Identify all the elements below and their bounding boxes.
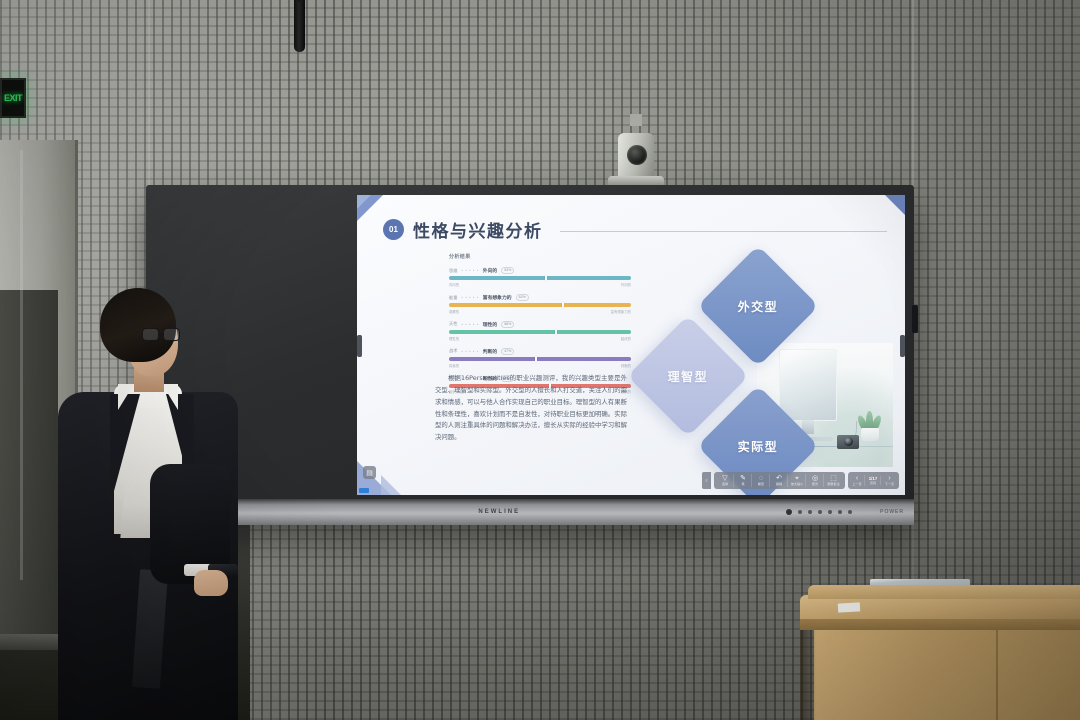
display-bottom-bezel: NEWLINE POWER <box>146 499 914 525</box>
annotation-toolbar[interactable]: ≡ ▽ 选择 ✎ 笔 ◌ 橡皮 ↶ <box>702 472 899 489</box>
trait-row: 天性 • • • • • 理性的 58% 理性的 起伏的 <box>449 321 631 341</box>
plant-icon <box>857 411 883 441</box>
trait-row: 思维 • • • • • 外向的 53% 内向的 外向的 <box>449 267 631 287</box>
trait-dimension: 战术 <box>449 348 457 354</box>
bezel-key[interactable] <box>818 510 822 514</box>
trait-bar-knob <box>562 302 564 308</box>
screenshot-tool-button[interactable]: ⬚ 屏幕批注 <box>825 474 842 487</box>
trait-name: 理性的 <box>483 321 497 328</box>
trait-percent: 58% <box>501 321 514 328</box>
toolbar-tool-group[interactable]: ▽ 选择 ✎ 笔 ◌ 橡皮 ↶ 撤销 <box>714 472 845 489</box>
presenter <box>58 288 238 720</box>
page-title: 性格与兴趣分析 <box>413 217 543 242</box>
presentation-slide[interactable]: 01 性格与兴趣分析 分析结果 思维 • • • • • 外向的 53% <box>357 195 905 495</box>
paper-note <box>838 602 860 612</box>
trait-dots: • • • • • <box>461 322 478 327</box>
trait-row: 能量 • • • • • 富有想象力的 62% 观察的 富有想象力的 <box>449 294 631 314</box>
trait-dots: • • • • • <box>461 268 478 273</box>
pen-icon: ✎ <box>740 475 746 482</box>
trait-bar <box>449 276 631 280</box>
bezel-key[interactable] <box>828 510 832 514</box>
prev-page-button[interactable]: ‹ 上一页 <box>850 475 865 486</box>
tool-label: 聚光 <box>812 483 818 486</box>
glasses-lens-left <box>142 328 159 341</box>
cursor-select-icon: ▽ <box>722 475 727 482</box>
header-divider <box>560 231 888 232</box>
trait-percent: 47% <box>501 348 514 355</box>
side-port-right <box>912 305 918 333</box>
menu-icon: ▤ <box>366 469 373 477</box>
next-page-button[interactable]: › 下一页 <box>882 475 897 486</box>
trait-name: 外向的 <box>483 267 497 274</box>
trait-dimension: 能量 <box>449 295 457 301</box>
trait-bar <box>449 330 631 334</box>
corner-decoration-top-right <box>885 195 905 215</box>
tool-label: 撤销 <box>776 483 782 486</box>
prev-page-label: 上一页 <box>852 483 861 486</box>
tool-label: 屏幕批注 <box>827 483 839 486</box>
personality-type-diagram: 外交型 理智型 实际型 <box>627 257 897 472</box>
chart-caption: 分析结果 <box>449 253 631 260</box>
select-tool-button[interactable]: ▽ 选择 <box>717 474 734 487</box>
tool-label: 笔 <box>741 483 744 486</box>
trait-dimension: 思维 <box>449 268 457 274</box>
chevron-right-icon: › <box>888 475 890 482</box>
screenshot-icon: ⬚ <box>830 475 837 482</box>
trait-bar-knob <box>545 275 547 281</box>
trait-dots: • • • • • <box>461 295 478 300</box>
door-opening <box>0 290 58 650</box>
page-indicator: 1/17 页码 <box>866 476 881 485</box>
toolbar-collapse-tab[interactable]: ≡ <box>702 472 711 489</box>
undo-icon: ↶ <box>776 475 782 482</box>
spotlight-tool-button[interactable]: ◎ 聚光 <box>807 474 824 487</box>
eraser-tool-button[interactable]: ◌ 橡皮 <box>753 474 770 487</box>
hand <box>194 570 228 596</box>
diamond-label: 理智型 <box>668 367 709 384</box>
chevron-left-icon: ‹ <box>856 475 858 482</box>
shirt-collar-right <box>162 384 178 410</box>
toolbar-tab-icon: ≡ <box>705 478 707 483</box>
trait-left-end: 理性的 <box>449 336 459 341</box>
plant-pot <box>861 428 879 441</box>
camera-prop-icon <box>837 435 859 449</box>
trait-left-end: 探索的 <box>449 363 459 368</box>
conference-room-scene: EXIT 01 性格与兴趣分析 <box>0 0 1080 720</box>
lectern-edge <box>800 619 1080 630</box>
hair <box>100 288 176 362</box>
eraser-icon: ◌ <box>759 475 763 482</box>
diamond-label: 实际型 <box>738 437 779 454</box>
bezel-control-keys[interactable] <box>786 509 852 515</box>
lectern <box>800 585 1080 720</box>
trait-left-end: 内向的 <box>449 282 459 287</box>
slide-header: 01 性格与兴趣分析 <box>383 217 887 242</box>
exit-sign-label: EXIT <box>4 94 22 103</box>
exit-sign: EXIT <box>0 78 26 118</box>
trait-name: 富有想象力的 <box>483 294 512 301</box>
corner-decoration-bottom-left-inner <box>381 475 401 495</box>
jacket-lapel-left <box>110 394 140 506</box>
trait-name: 判断的 <box>483 348 497 355</box>
interactive-flat-panel[interactable]: 01 性格与兴趣分析 分析结果 思维 • • • • • 外向的 53% <box>146 185 914 525</box>
trait-bar-knob <box>535 356 537 362</box>
section-number-badge: 01 <box>383 219 404 240</box>
pen-tool-button[interactable]: ✎ 笔 <box>735 474 752 487</box>
glasses-icon <box>142 328 180 342</box>
shirt-collar-left <box>118 384 134 410</box>
tool-label: 选择 <box>722 483 728 486</box>
camera-mount <box>630 114 642 126</box>
diamond-label: 外交型 <box>738 297 779 314</box>
corner-decoration-top-left-inner <box>357 195 371 209</box>
tool-label: 放大缩小 <box>791 483 803 486</box>
camera-lens-icon <box>627 145 647 165</box>
glasses-lens-right <box>163 328 180 341</box>
door-seam <box>20 150 23 580</box>
lectern-panel-seam <box>996 630 998 720</box>
bezel-key[interactable] <box>798 510 802 514</box>
next-page-label: 下一页 <box>885 483 894 486</box>
trait-bar-knob <box>555 329 557 335</box>
lectern-shadow <box>800 630 816 720</box>
spotlight-icon: ◎ <box>812 475 818 482</box>
monitor-illustration <box>779 349 837 421</box>
display-brand-label: NEWLINE <box>478 509 520 515</box>
screen-edge-tab-left <box>357 335 362 357</box>
bezel-key[interactable] <box>838 510 842 514</box>
bezel-right-label: POWER <box>880 509 904 515</box>
ceiling-microphone-icon <box>294 0 305 52</box>
slide-body-text: 根据16Personalities的职业兴趣测评，我的兴趣类型主要是外交型、理智… <box>435 373 627 444</box>
trait-dots: • • • • • <box>461 349 478 354</box>
trait-row: 战术 • • • • • 判断的 47% 探索的 判断的 <box>449 348 631 368</box>
bezel-key[interactable] <box>808 510 812 514</box>
trait-left-end: 观察的 <box>449 309 459 314</box>
screen-edge-tab-right <box>900 335 905 357</box>
trait-percent: 53% <box>501 267 514 274</box>
trait-bar <box>449 357 631 361</box>
trait-dimension: 天性 <box>449 321 457 327</box>
toolbar-page-nav[interactable]: ‹ 上一页 1/17 页码 › 下一页 <box>848 472 899 489</box>
undo-button[interactable]: ↶ 撤销 <box>771 474 788 487</box>
bezel-key[interactable] <box>848 510 852 514</box>
slide-menu-button[interactable]: ▤ <box>363 466 376 479</box>
power-button[interactable] <box>786 509 792 515</box>
zoom-tool-button[interactable]: ⌖ 放大缩小 <box>789 474 806 487</box>
ptz-camera <box>608 120 664 188</box>
tool-label: 橡皮 <box>758 483 764 486</box>
trait-bar <box>449 303 631 307</box>
page-indicator-label: 页码 <box>870 482 876 485</box>
camera-head <box>618 133 654 179</box>
lectern-body <box>814 630 1080 720</box>
trait-percent: 62% <box>516 294 529 301</box>
lectern-lip <box>808 585 1080 599</box>
taskbar-chip[interactable] <box>359 488 369 493</box>
zoom-icon: ⌖ <box>795 475 799 482</box>
